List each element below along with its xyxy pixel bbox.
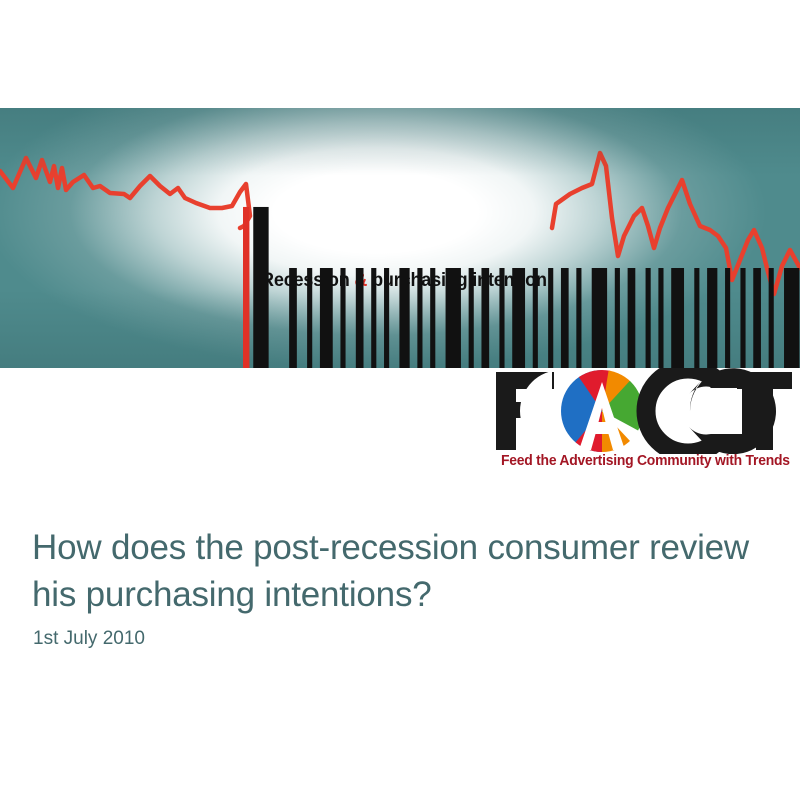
fact-logo-tagline: Feed the Advertising Community with Tren… (501, 453, 789, 469)
logo-letter-a (520, 368, 652, 454)
page-date: 1st July 2010 (33, 628, 145, 650)
fact-logo: Feed the Advertising Community with Tren… (492, 368, 792, 478)
page-title: How does the post-recession consumer rev… (32, 524, 762, 618)
fact-logo-mark (492, 368, 792, 454)
hero-banner: Recession & purchasing intention (0, 108, 800, 368)
barcode-bars (243, 268, 800, 368)
barcode-graphic: Recession & purchasing intention (243, 268, 555, 368)
slide-root: { "hero": { "alt_name": "recession-purch… (0, 0, 800, 800)
